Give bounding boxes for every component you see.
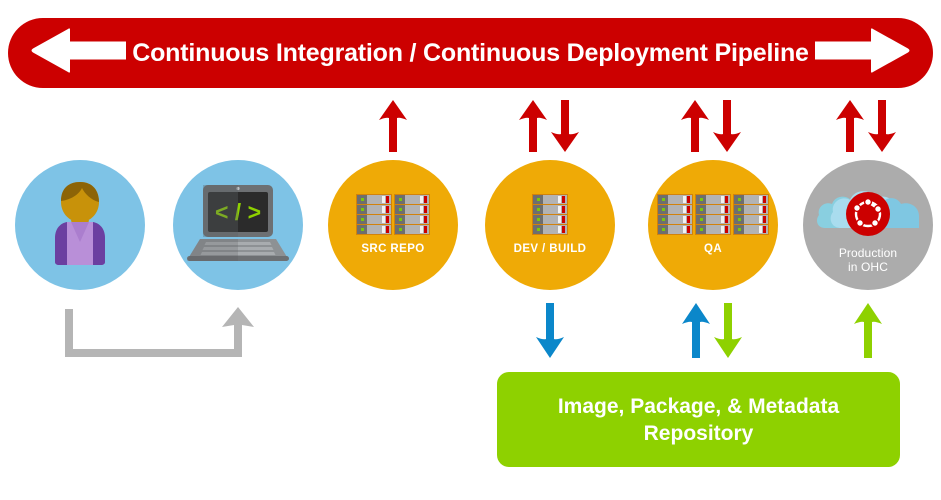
server-rack xyxy=(394,194,430,235)
pipeline-banner: Continuous Integration / Continuous Depl… xyxy=(8,18,933,88)
repository-box[interactable]: Image, Package, & Metadata Repository xyxy=(497,372,900,467)
server-rack xyxy=(532,194,568,235)
node-workstation[interactable]: < / > xyxy=(173,160,303,290)
node-label-dev-build: DEV / BUILD xyxy=(514,242,587,256)
server-rack xyxy=(356,194,392,235)
page-title: Continuous Integration / Continuous Depl… xyxy=(132,39,809,68)
person-icon xyxy=(41,180,119,271)
arrow-up-src-repo xyxy=(378,100,408,157)
node-production[interactable]: Production in OHC xyxy=(803,160,933,290)
arrow-up-qa xyxy=(680,100,710,157)
server-rack xyxy=(733,194,769,235)
node-label-production: Production in OHC xyxy=(839,246,897,274)
node-src-repo[interactable]: SRC REPO xyxy=(328,160,458,290)
arrow-down-dev-build xyxy=(550,100,580,157)
node-label-qa: QA xyxy=(704,242,722,256)
arrow-up-production-from-repo xyxy=(853,303,883,363)
arrow-down-qa xyxy=(712,100,742,157)
arrow-left-icon xyxy=(30,28,126,79)
server-rack xyxy=(695,194,731,235)
arrow-up-production xyxy=(835,100,865,157)
server-rack-icon xyxy=(657,194,769,235)
node-label-src-repo: SRC REPO xyxy=(361,242,424,256)
server-rack xyxy=(657,194,693,235)
repository-label: Image, Package, & Metadata Repository xyxy=(558,393,839,447)
node-developer[interactable] xyxy=(15,160,145,290)
arrow-up-dev-build xyxy=(518,100,548,157)
cloud-openshift-icon xyxy=(815,176,921,239)
node-qa[interactable]: QA xyxy=(648,160,778,290)
cicd-pipeline-diagram: Continuous Integration / Continuous Depl… xyxy=(0,0,941,500)
server-rack-icon xyxy=(532,194,568,235)
arrow-down-production xyxy=(867,100,897,157)
laptop-code-icon: < / > xyxy=(186,183,290,268)
server-rack-icon xyxy=(356,194,430,235)
arrow-up-qa-from-repo xyxy=(681,303,711,363)
arrow-down-dev-build-to-repo xyxy=(535,303,565,363)
arrow-down-qa-to-repo xyxy=(713,303,743,363)
arrow-right-icon xyxy=(815,28,911,79)
node-dev-build[interactable]: DEV / BUILD xyxy=(485,160,615,290)
elbow-arrow-up xyxy=(62,305,262,363)
